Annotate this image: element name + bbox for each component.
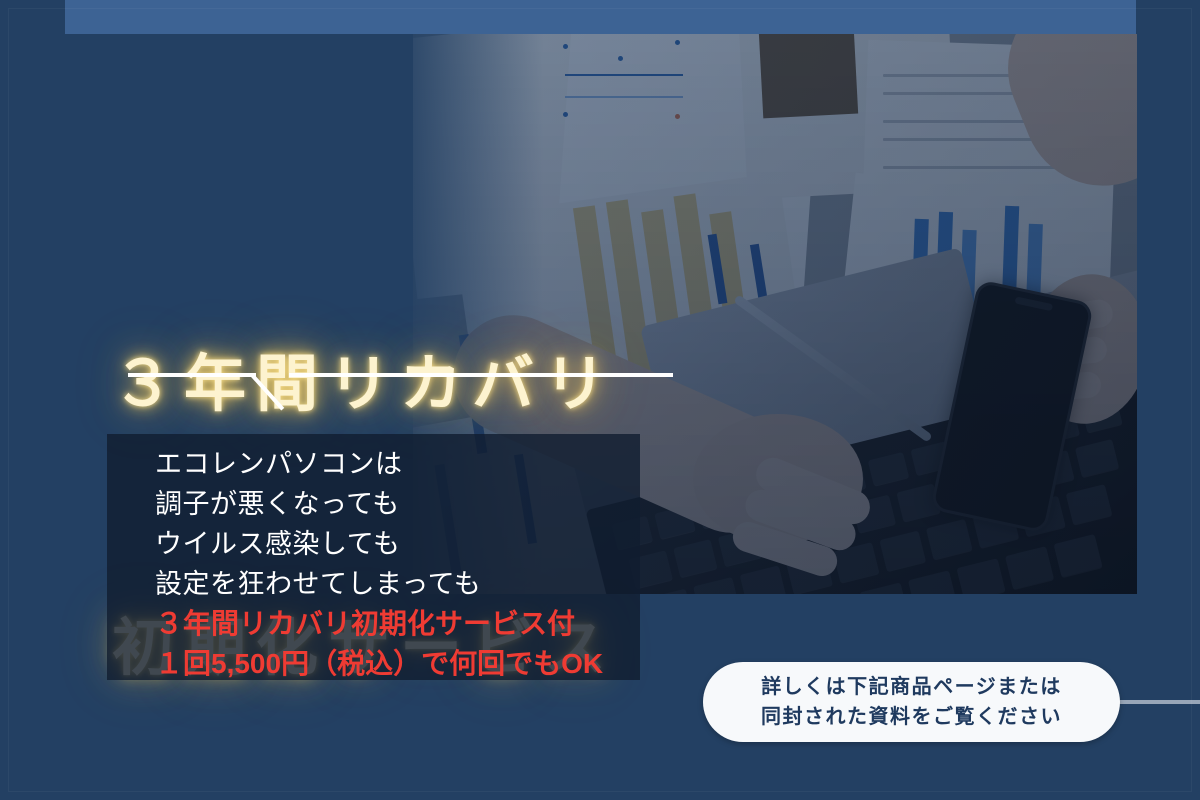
info-line-3: ウイルス感染しても [155, 524, 675, 564]
decor-line-left [128, 373, 256, 377]
decor-line-right [289, 373, 673, 377]
callout-line-2: 同封された資料をご覧ください [761, 702, 1062, 732]
info-line-6: １回5,500円（税込）で何回でもOK [155, 644, 675, 684]
callout-line-1: 詳しくは下記商品ページまたは [761, 672, 1062, 702]
banner-canvas: ３年間リカバリ 初期化サービス エコレンパソコンは 調子が悪くなっても ウイルス… [0, 0, 1200, 800]
info-line-5: ３年間リカバリ初期化サービス付 [155, 604, 675, 644]
info-box-lines: エコレンパソコンは 調子が悪くなっても ウイルス感染しても 設定を狂わせてしまっ… [155, 444, 675, 684]
info-line-2: 調子が悪くなっても [155, 484, 675, 524]
top-accent-bar [65, 0, 1136, 34]
callout-pill[interactable]: 詳しくは下記商品ページまたは 同封された資料をご覧ください [703, 662, 1120, 742]
title-line-1: ３年間リカバリ [112, 341, 872, 429]
info-box: エコレンパソコンは 調子が悪くなっても ウイルス感染しても 設定を狂わせてしまっ… [107, 434, 640, 680]
info-line-1: エコレンパソコンは [155, 444, 675, 484]
info-line-4: 設定を狂わせてしまっても [155, 564, 675, 604]
